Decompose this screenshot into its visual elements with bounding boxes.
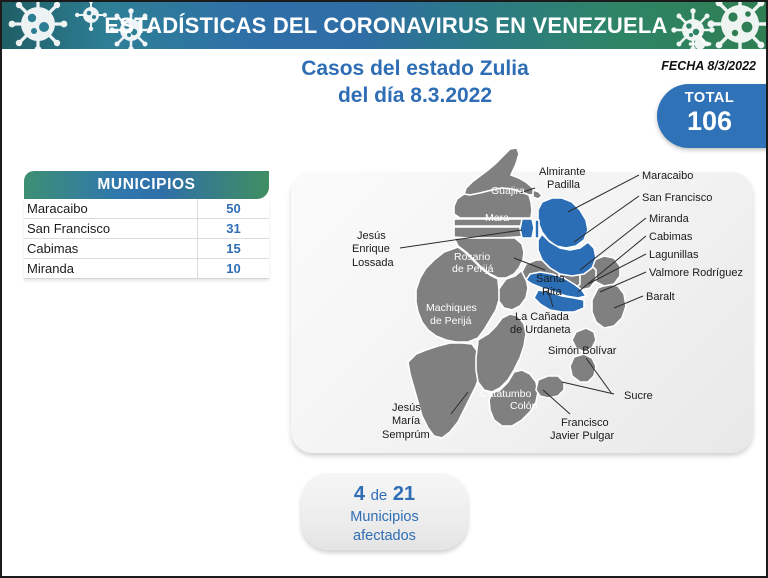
municipio-count: 15 (198, 239, 269, 258)
afectados-total: 21 (393, 483, 415, 505)
map-label-jesus-maria-semprum-2: María (392, 415, 420, 428)
municipio-count: 31 (198, 219, 269, 238)
map-label-francisco-javier-pulgar: Francisco (561, 417, 609, 430)
map-label-miranda: Miranda (649, 213, 689, 226)
table-row: Maracaibo 50 (24, 199, 269, 219)
map-label-maracaibo: Maracaibo (642, 170, 693, 183)
table-row: Miranda 10 (24, 259, 269, 279)
map-label-jesus-enrique-lossada-2: Enrique (352, 243, 390, 256)
total-badge: TOTAL 106 (657, 84, 768, 148)
afectados-line3: afectados (301, 527, 468, 546)
map-label-baralt: Baralt (646, 291, 675, 304)
afectados-line2: Municipios (301, 508, 468, 527)
municipio-name: Miranda (24, 259, 198, 278)
subtitle-line2: del día 8.3.2022 (220, 82, 610, 109)
municipio-name: Cabimas (24, 239, 198, 258)
total-value: 106 (657, 106, 762, 136)
subtitle-line1: Casos del estado Zulia (301, 57, 529, 80)
municipios-table-body: Maracaibo 50 San Francisco 31 Cabimas 15… (24, 199, 269, 279)
map-label-jesus-maria-semprum-3: Semprúm (382, 429, 430, 442)
map-label-la-canada: La Cañada (515, 311, 569, 324)
map-label-santa-rita: Santa (536, 273, 565, 286)
map-label-mara: Mara (485, 212, 509, 225)
afectados-count-line: 4 de 21 (301, 482, 468, 508)
map-label-lagunillas: Lagunillas (649, 249, 699, 262)
afectados-badge: 4 de 21 Municipios afectados (301, 473, 468, 550)
map-label-machiques-2: de Perijá (430, 315, 471, 328)
afectados-count: 4 (354, 483, 365, 505)
map-label-la-canada-2: de Urdaneta (510, 324, 571, 337)
map-label-santa-rita-2: Rita (542, 286, 562, 299)
municipio-count: 50 (198, 199, 269, 218)
afectados-de: de (371, 487, 388, 504)
map-label-machiques: Machiques (426, 302, 477, 315)
map-label-jesus-enrique-lossada-3: Lossada (352, 257, 394, 270)
map-label-jesus-enrique-lossada: Jesús (357, 230, 386, 243)
infographic-page: ESTADÍSTICAS DEL CORONAVIRUS EN VENEZUEL… (0, 0, 768, 578)
map-label-cabimas: Cabimas (649, 231, 692, 244)
map-label-almirante-padilla: Almirante (539, 166, 585, 179)
page-title: ESTADÍSTICAS DEL CORONAVIRUS EN VENEZUEL… (2, 2, 768, 49)
map-label-colon: Colón (510, 400, 537, 413)
map-label-simon-bolivar: Simón Bolívar (548, 345, 616, 358)
map-label-valmore-rodriguez: Valmore Rodríguez (649, 267, 743, 280)
map-label-san-francisco: San Francisco (642, 192, 712, 205)
map-label-rosario-2: de Perijá (452, 263, 493, 276)
municipio-name: Maracaibo (24, 199, 198, 218)
municipios-table-header: MUNICIPIOS (24, 171, 269, 199)
map-label-guajira: Guajira (491, 185, 525, 198)
map-label-sucre: Sucre (624, 390, 653, 403)
municipio-name: San Francisco (24, 219, 198, 238)
subtitle: Casos del estado Zulia del día 8.3.2022 (220, 55, 610, 109)
fecha-label: FECHA 8/3/2022 (661, 59, 756, 73)
map-label-jesus-maria-semprum: Jesús (392, 402, 421, 415)
municipios-table: MUNICIPIOS Maracaibo 50 San Francisco 31… (24, 171, 269, 283)
map-label-francisco-javier-pulgar-2: Javier Pulgar (550, 430, 614, 443)
table-row: San Francisco 31 (24, 219, 269, 239)
map-label-almirante-padilla-2: Padilla (547, 179, 580, 192)
total-label: TOTAL (657, 90, 762, 106)
header-bar: ESTADÍSTICAS DEL CORONAVIRUS EN VENEZUEL… (2, 2, 768, 49)
municipio-count: 10 (198, 259, 269, 278)
table-row: Cabimas 15 (24, 239, 269, 259)
